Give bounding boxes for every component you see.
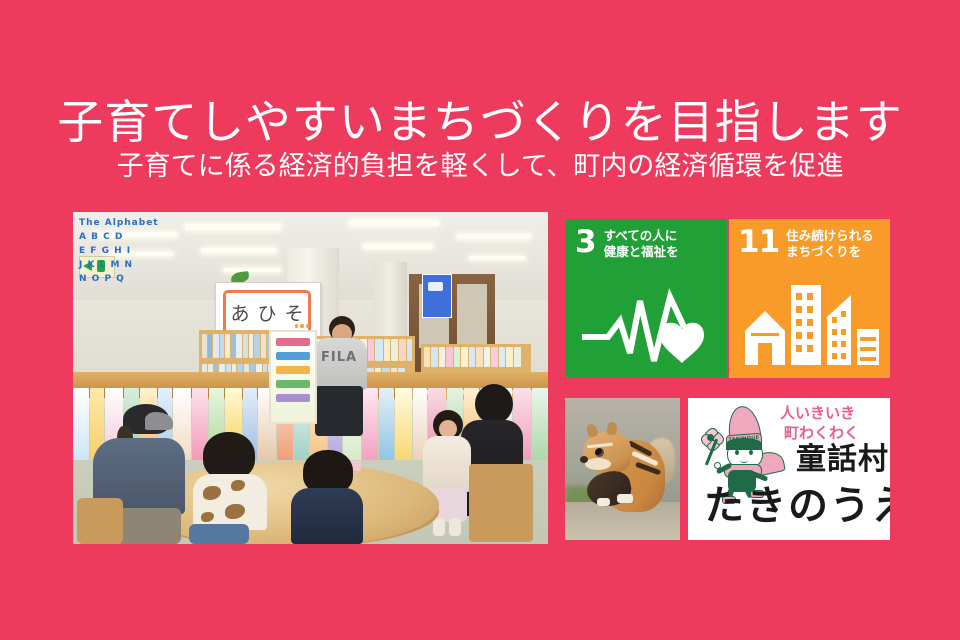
fairy-eye [735, 450, 739, 455]
chipmunk-ear [606, 422, 617, 436]
sdg-11-header: 11 住み続けられる まちづくりを [738, 228, 874, 260]
fairy-eye [749, 450, 753, 455]
logo-village-name: 童話村 [796, 444, 889, 476]
sdg-badge-11: 11 住み続けられる まちづくりを [729, 219, 890, 378]
sdg-11-number: 11 [738, 228, 779, 257]
sdg-3-label-line2: 健康と福祉を [604, 244, 679, 259]
wall-poster [422, 274, 452, 318]
sdg-3-number: 3 [575, 228, 597, 257]
kana-sign-char-2: ひ [257, 305, 276, 324]
chipmunk-ear [585, 423, 598, 438]
standing-adult: FILA [311, 316, 371, 436]
page-subtitle: 子育てに係る経済的負担を軽くして、町内の経済循環を促進 [0, 150, 960, 184]
page-title: 子育てしやすいまちづくりを目指します [0, 96, 960, 148]
photo-door-glass [457, 284, 487, 348]
kana-sign-char-1: あ [230, 305, 249, 324]
sdg-11-label: 住み続けられる まちづくりを [786, 228, 874, 260]
held-board [269, 330, 317, 424]
headline-block: 子育てしやすいまちづくりを目指します 子育てに係る経済的負担を軽くして、町内の経… [0, 96, 960, 184]
kana-sign-char-3: そ [285, 305, 304, 324]
sdg-3-label: すべての人に 健康と福祉を [604, 228, 679, 260]
ceiling-light [349, 220, 439, 226]
abc-line: J K L M N [79, 260, 133, 270]
chipmunk-nose [580, 456, 588, 463]
wooden-chair [469, 464, 533, 542]
logo-tagline-line1: 人いきいき [780, 404, 855, 422]
ceiling-light [457, 234, 531, 239]
fairy-hand [714, 462, 721, 469]
sdg-badge-3: 3 すべての人に 健康と福祉を [566, 219, 727, 378]
ceiling-light [469, 256, 525, 260]
chipmunk-photo [565, 398, 680, 540]
wooden-chair [77, 498, 123, 544]
ceiling-light [185, 224, 281, 230]
ceiling-light [201, 248, 277, 253]
library-photo: あ ひ そ [73, 212, 548, 544]
chipmunk-paw [617, 494, 633, 503]
takinoue-town-logo: TAKINOUE 人いきいき 町わくわく 童話村 たきのうえ [688, 398, 890, 540]
fairy-mouth [740, 458, 748, 463]
heartbeat-icon [578, 281, 716, 367]
toddler-center [189, 432, 269, 544]
abc-line: The Alphabet [79, 218, 159, 228]
logo-town-name: たきのうえ [704, 484, 890, 528]
sdg-11-label-line1: 住み続けられる [786, 228, 874, 243]
sdg-11-label-line2: まちづくりを [786, 244, 861, 259]
chipmunk-paw [597, 498, 610, 506]
child-right-front [289, 450, 365, 544]
abc-line: N O P Q [79, 274, 125, 284]
ceiling-light [363, 244, 433, 249]
kana-sign-dots [295, 324, 309, 329]
chipmunk-cheek [585, 458, 611, 470]
hoodie-brand-text: FILA [321, 350, 357, 365]
fairy-hair [726, 438, 762, 450]
ceiling-light [223, 268, 281, 272]
logo-tagline-line2: 町わくわく [784, 424, 859, 442]
abc-line: A B C D [79, 232, 123, 242]
wall-poster-detail [428, 282, 443, 291]
sdg-3-label-line1: すべての人に [604, 228, 678, 243]
sdg-3-header: 3 すべての人に 健康と福祉を [575, 228, 679, 260]
chipmunk-eye [595, 448, 604, 457]
promo-banner: 子育てしやすいまちづくりを目指します 子育てに係る経済的負担を軽くして、町内の経… [0, 0, 960, 640]
abc-line: E F G H I [79, 246, 131, 256]
cityscape-icon [739, 277, 881, 371]
